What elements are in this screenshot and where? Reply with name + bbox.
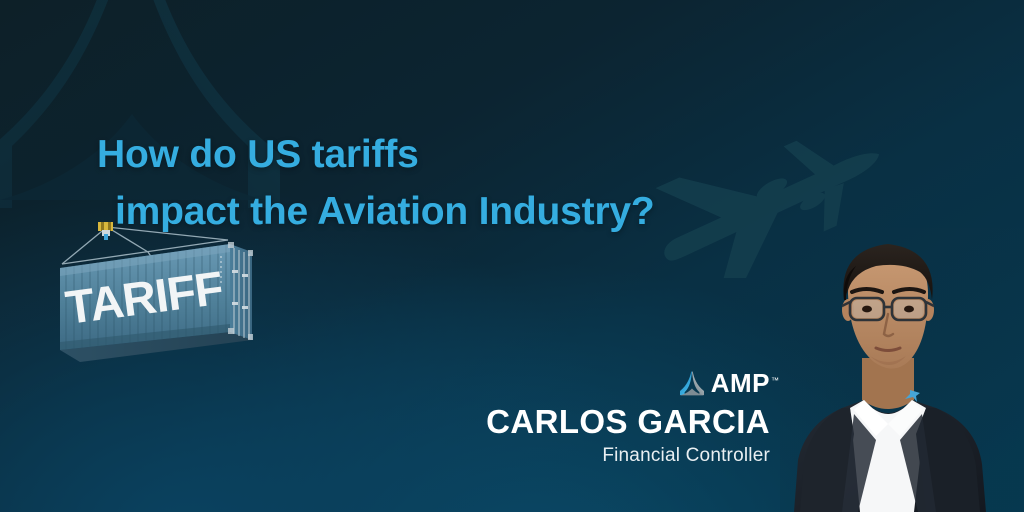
headline-line-1: How do US tariffs [97, 133, 419, 176]
amp-triangle-logo-icon [678, 370, 706, 396]
amp-logo-word: AMP [711, 368, 770, 398]
brand-block: AMP™ CARLOS GARCIA Financial Controller [430, 368, 770, 469]
amp-logo: AMP™ [430, 368, 770, 398]
presenter-name: CARLOS GARCIA [430, 402, 770, 442]
amp-logo-text: AMP™ [711, 370, 770, 396]
crane-hook-icon [98, 222, 113, 240]
presenter-role: Financial Controller [430, 443, 770, 469]
portrait-photo [780, 228, 1024, 512]
social-media-banner: How do US tariffs impact the Aviation In… [0, 0, 1024, 512]
shipping-container-icon: TARIFF [52, 222, 298, 368]
trademark-symbol: ™ [771, 368, 779, 394]
